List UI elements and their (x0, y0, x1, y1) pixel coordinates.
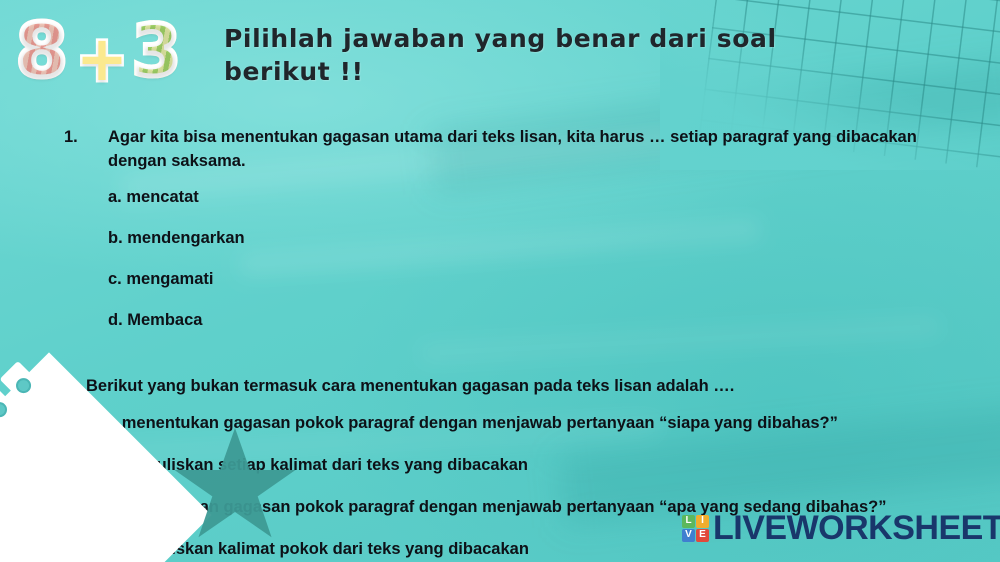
tile-v: V (682, 529, 695, 542)
option-1c[interactable]: c. mengamati (108, 268, 944, 292)
option-1d[interactable]: d. Membaca (108, 309, 944, 333)
liveworksheets-logo[interactable]: L I V E LIVEWORKSHEETS (682, 500, 1000, 556)
worksheet-page: 8 + 3 Pilihlah jawaban yang benar dari s… (0, 0, 1000, 562)
tile-i: I (696, 515, 709, 528)
tile-l: L (682, 515, 695, 528)
option-1a[interactable]: a. mencatat (108, 186, 944, 210)
question-2-header: 2. Berikut yang bukan termasuk cara mene… (64, 375, 974, 399)
question-1-options: a. mencatat b. mendengarkan c. mengamati… (108, 186, 944, 333)
liveworksheets-wordmark: LIVEWORKSHEETS (713, 511, 1000, 545)
question-1: 1. Agar kita bisa menentukan gagasan uta… (64, 126, 944, 333)
page-title: Pilihlah jawaban yang benar dari soal be… (224, 22, 784, 89)
tile-e: E (696, 529, 709, 542)
question-2-text: Berikut yang bukan termasuk cara menentu… (86, 375, 966, 399)
option-1b[interactable]: b. mendengarkan (108, 227, 944, 251)
questions-container: 1. Agar kita bisa menentukan gagasan uta… (0, 126, 1000, 562)
math-decoration: 8 + 3 (14, 10, 204, 92)
question-1-text: Agar kita bisa menentukan gagasan utama … (108, 126, 944, 174)
plus-sign-icon: + (76, 28, 128, 90)
question-2-number: 2. (64, 375, 86, 399)
digit-three-icon: 3 (132, 16, 181, 86)
digit-eight-icon: 8 (16, 14, 68, 88)
liveworksheets-tiles-icon: L I V E (682, 515, 709, 542)
question-1-number: 1. (64, 126, 108, 150)
question-1-header: 1. Agar kita bisa menentukan gagasan uta… (64, 126, 944, 174)
